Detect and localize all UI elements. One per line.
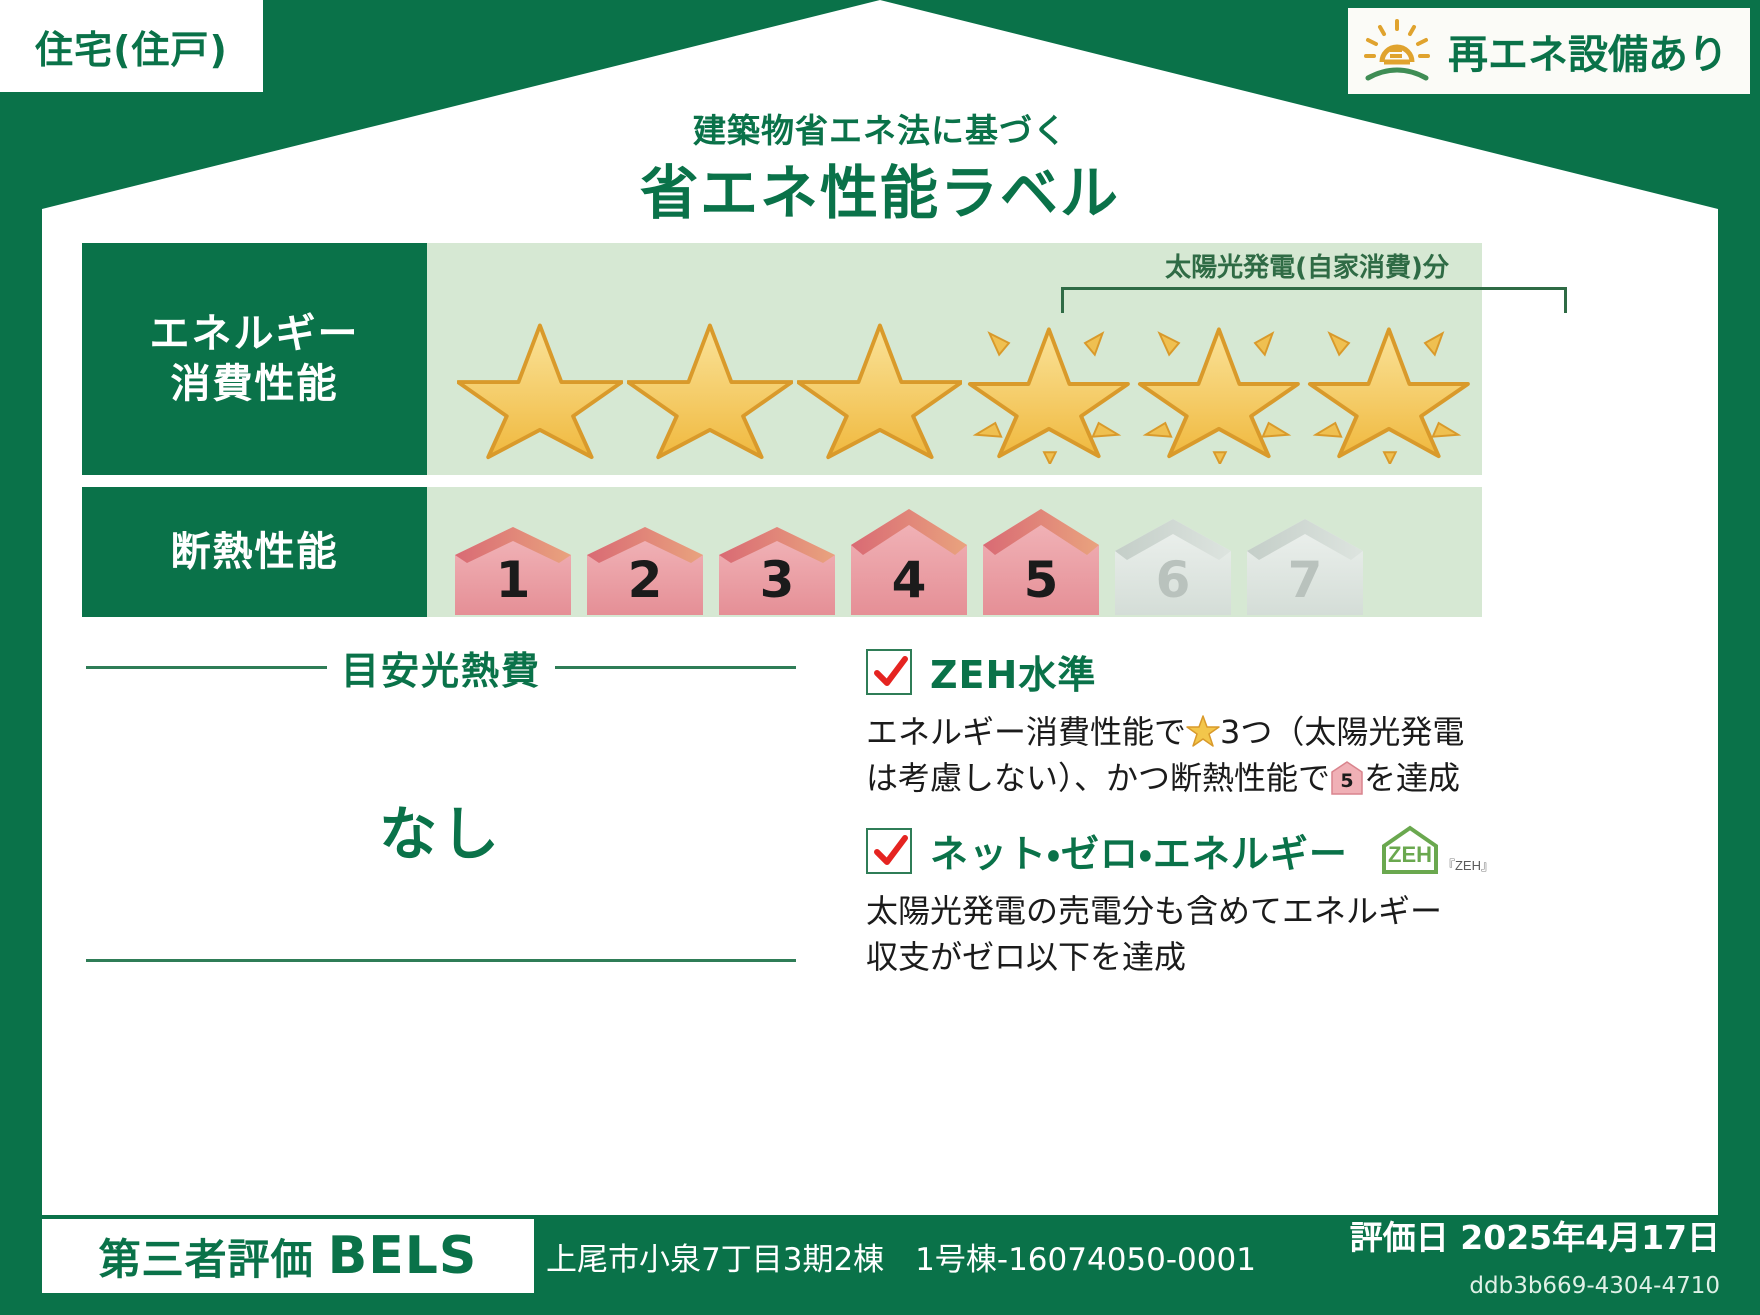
renewable-energy-label: 再エネ設備あり [1448,22,1728,80]
energy-label-line2: 消費性能 [171,359,339,409]
building-type-badge: 住宅(住戸) [0,0,263,92]
solar-self-consumption-note: 太陽光発電(自家消費)分 [1027,247,1587,284]
energy-label-line1: エネルギー [150,309,360,359]
red-check-icon [872,833,910,871]
insulation-level-house: 5 [977,507,1105,617]
zeh-logo-icon: ZEH 『ZEH』 [1376,824,1496,878]
evaluation-id: ddb3b669-4304-4710 [1469,1273,1720,1299]
zeh-desc-part-b: 3つ（太陽光発電 [1220,713,1464,751]
svg-text:ZEH: ZEH [1388,842,1432,867]
net-zero-energy-title: ネット・ゼロ・エネルギー [930,823,1348,878]
zeh-desc-part-c: は考慮しない）、かつ断熱性能で [866,759,1330,797]
zeh-desc-part-a: エネルギー消費性能で [866,713,1186,751]
utility-cost-block: 目安光熱費 なし [86,640,796,962]
insulation-level-house: 4 [845,507,973,617]
insulation-level-chip-number: 5 [1330,768,1364,795]
building-type-label: 住宅(住戸) [35,19,228,74]
star-icon-solar [1306,304,1472,464]
net-zero-energy-description: 太陽光発電の売電分も含めてエネルギー 収支がゼロ以下を達成 [866,888,1496,980]
divider-right [555,666,796,669]
zeh-logo-subtext: 『ZEH』 [1442,858,1494,873]
insulation-level-number: 3 [713,551,841,609]
zeh-standard-title: ZEH水準 [930,644,1096,699]
label-title: 省エネ性能ラベル [0,146,1760,230]
zeh-standard-checkbox[interactable] [866,649,912,695]
utility-cost-bottom-rule [86,959,796,962]
solar-sun-icon [1360,18,1434,84]
energy-performance-row: エネルギー 消費性能 太陽光発電(自家消費)分 [82,243,1482,475]
insulation-label-text: 断熱性能 [171,527,339,577]
star-icon [797,304,963,464]
evaluation-date: 評価日 2025年4月17日 [1350,1211,1720,1259]
insulation-level-house: 3 [713,525,841,617]
insulation-level-chip: 5 [1330,760,1364,796]
net-zero-energy-row: ネット・ゼロ・エネルギー ZEH 『ZEH』 [866,823,1496,878]
insulation-performance-label: 断熱性能 [82,487,427,617]
third-party-eval-label: 第三者評価 [99,1226,314,1287]
label-subtitle: 建築物省エネ法に基づく [0,104,1760,152]
insulation-level-number: 6 [1109,551,1237,609]
insulation-level-house-inactive: 7 [1241,517,1369,617]
star-rating [457,299,1472,469]
net-zero-energy-checkbox[interactable] [866,828,912,874]
insulation-level-number: 7 [1241,551,1369,609]
zeh-desc-part-d: を達成 [1364,759,1460,797]
divider-left [86,666,327,669]
bels-badge: 第三者評価 BELS [42,1219,534,1293]
energy-rating-area: 太陽光発電(自家消費)分 [427,243,1482,475]
insulation-level-scale: 1 2 3 4 [449,487,1482,617]
star-icon-solar [1136,304,1302,464]
bels-logo-text: BELS [328,1226,478,1286]
insulation-level-number: 4 [845,551,973,609]
utility-cost-heading: 目安光熱費 [86,640,796,695]
zeh-standard-row: ZEH水準 [866,644,1496,699]
footer-bar: 第三者評価 BELS 上尾市小泉7丁目3期2棟 1号棟-16074050-000… [0,1215,1760,1315]
net-zero-desc-line1: 太陽光発電の売電分も含めてエネルギー [866,892,1442,930]
star-icon-solar [966,304,1132,464]
insulation-level-house: 1 [449,525,577,617]
property-address: 上尾市小泉7丁目3期2棟 1号棟-16074050-0001 [546,1234,1256,1279]
insulation-level-house-inactive: 6 [1109,517,1237,617]
zeh-standard-description: エネルギー消費性能で3つ（太陽光発電 は考慮しない）、かつ断熱性能で5を達成 [866,709,1496,801]
red-check-icon [872,654,910,692]
insulation-performance-row: 断熱性能 1 2 [82,487,1482,617]
utility-cost-heading-text: 目安光熱費 [341,640,541,695]
renewable-energy-badge: 再エネ設備あり [1348,8,1750,94]
energy-performance-label: エネルギー 消費性能 [82,243,427,475]
star-icon [457,304,623,464]
insulation-level-house: 2 [581,525,709,617]
insulation-level-number: 1 [449,551,577,609]
star-icon-inline [1186,714,1220,748]
zeh-block: ZEH水準 エネルギー消費性能で3つ（太陽光発電 は考慮しない）、かつ断熱性能で… [866,644,1496,980]
insulation-level-number: 5 [977,551,1105,609]
utility-cost-value: なし [86,787,796,871]
insulation-rating-area: 1 2 3 4 [427,487,1482,617]
net-zero-desc-line2: 収支がゼロ以下を達成 [866,938,1186,976]
star-icon [627,304,793,464]
insulation-level-number: 2 [581,551,709,609]
